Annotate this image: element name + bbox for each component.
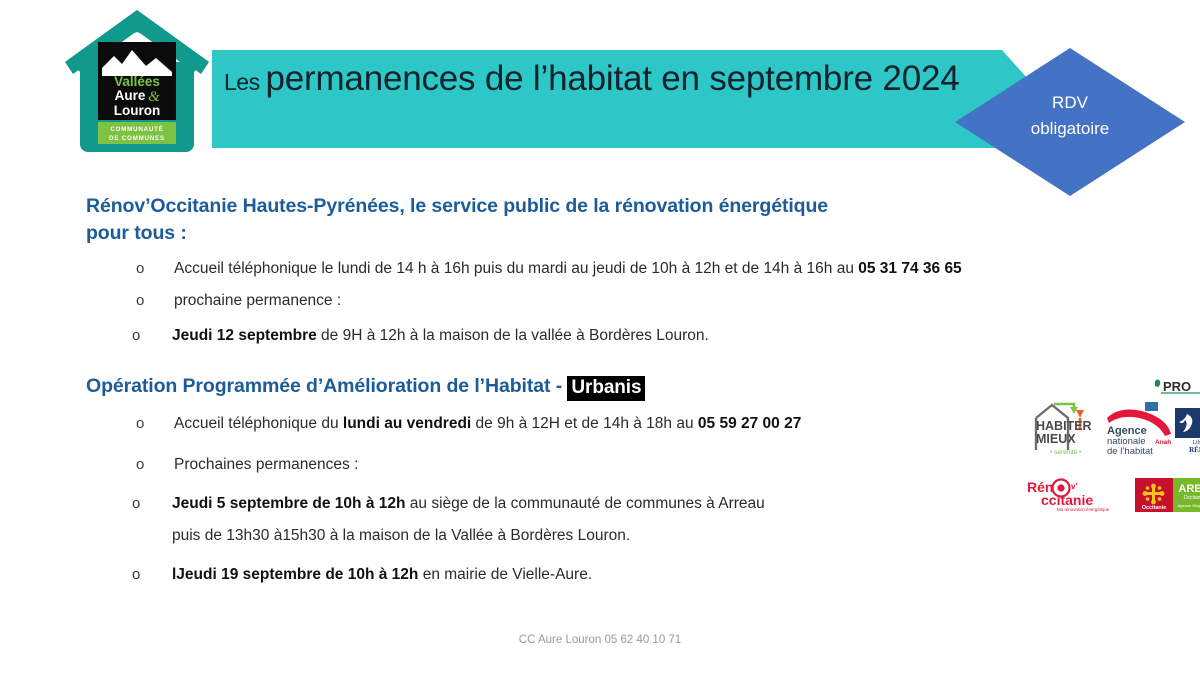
section-1-bullet-list: o Accueil téléphonique le lundi de 14 h …: [136, 258, 1076, 311]
section-2-heading: Opération Programmée d’Amélioration de l…: [86, 373, 1076, 401]
list-item-text: Prochaines permanences :: [174, 456, 358, 473]
footer-text: CC Aure Louron 05 62 40 10 71: [0, 634, 1200, 646]
svg-text:• sérénité •: • sérénité •: [1050, 449, 1082, 456]
phone-number: 05 59 27 00 27: [698, 415, 801, 432]
region-occitanie-logo: Occitanie: [1135, 478, 1173, 512]
bullet-marker: o: [136, 454, 144, 475]
section-opah-urbanis: Opération Programmée d’Amélioration de l…: [86, 373, 1076, 585]
pro-logo: PRO: [1153, 378, 1200, 394]
svg-text:RÉPUB: RÉPUB: [1189, 446, 1200, 454]
list-item: o prochaine permanence :: [136, 290, 1076, 311]
svg-text:de l’habitat: de l’habitat: [1107, 446, 1153, 456]
svg-text:Anah: Anah: [1155, 439, 1171, 446]
permanence-date: Jeudi 12 septembre: [172, 327, 317, 344]
section-1-sub-list: o Jeudi 12 septembre de 9H à 12h à la ma…: [128, 325, 1076, 346]
list-item-text: Accueil téléphonique le lundi de 14 h à …: [174, 260, 858, 277]
list-item-text: Accueil téléphonique du: [174, 415, 343, 432]
permanence-detail-line2: puis de 13h30 à15h30 à la maison de la V…: [172, 525, 1076, 546]
svg-text:AREC: AREC: [1178, 483, 1200, 495]
renov-occitanie-logo: Rén v’ ccitanie Ma rénovation énergétiqu…: [1027, 478, 1122, 512]
section-2-bullet-list: o Accueil téléphonique du lundi au vendr…: [136, 413, 1076, 475]
rdv-badge-line1: RDV: [955, 90, 1185, 116]
permanence-detail: de 9H à 12h à la maison de la vallée à B…: [317, 327, 709, 344]
section-2-sub-list: o Jeudi 5 septembre de 10h à 12h au sièg…: [128, 493, 1076, 585]
section-1-heading-line1: Rénov’Occitanie Hautes-Pyrénées, le serv…: [86, 193, 1076, 220]
rdv-badge-line2: obligatoire: [955, 116, 1185, 142]
republique-francaise-logo: Liberté RÉPUB: [1175, 408, 1200, 454]
days-range: lundi au vendredi: [343, 415, 471, 432]
page-title-main: permanences de l’habitat en septembre 20…: [265, 59, 959, 98]
svg-text:Occitanie: Occitanie: [1142, 505, 1166, 511]
page-title-prefix: Les: [224, 69, 265, 95]
svg-text:Louron: Louron: [114, 103, 161, 118]
list-item-text: prochaine permanence :: [174, 292, 341, 309]
permanence-date: Jeudi 5 septembre de 10h à 12h: [172, 495, 405, 512]
urbanis-logo-badge: Urbanis: [567, 376, 645, 401]
bullet-marker: o: [136, 290, 144, 311]
svg-text:ccitanie: ccitanie: [1041, 492, 1093, 508]
section-renov-occitanie: Rénov’Occitanie Hautes-Pyrénées, le serv…: [86, 193, 1076, 346]
rdv-badge: RDV obligatoire: [955, 48, 1185, 196]
svg-text:DE COMMUNES: DE COMMUNES: [109, 135, 165, 142]
list-item: o Accueil téléphonique du lundi au vendr…: [136, 413, 1076, 434]
phone-number: 05 31 74 36 65: [858, 260, 961, 277]
arec-logo: AREC Occitanie Agence Régionale: [1173, 478, 1200, 512]
rdv-badge-label: RDV obligatoire: [955, 90, 1185, 142]
bullet-marker: o: [136, 413, 144, 434]
bullet-marker: o: [132, 493, 140, 514]
slide-root: Vallées Aure & Louron COMMUNAUTÉ DE COMM…: [0, 0, 1200, 675]
section-1-heading: Rénov’Occitanie Hautes-Pyrénées, le serv…: [86, 193, 1076, 247]
permanence-detail: au siège de la communauté de communes à …: [405, 495, 764, 512]
bullet-marker: o: [136, 258, 144, 279]
svg-text:HABITER: HABITER: [1036, 419, 1092, 433]
svg-text:Ma rénovation énergétique: Ma rénovation énergétique: [1057, 507, 1110, 512]
svg-text:COMMUNAUTÉ: COMMUNAUTÉ: [110, 125, 163, 133]
svg-text:MIEUX: MIEUX: [1036, 432, 1076, 446]
vallees-aure-louron-logo: Vallées Aure & Louron COMMUNAUTÉ DE COMM…: [62, 6, 212, 158]
anah-logo: Agence nationale de l’habitat Anah: [1105, 400, 1177, 456]
svg-text:Occitanie: Occitanie: [1184, 495, 1200, 501]
habiter-mieux-logo: HABITER MIEUX • sérénité •: [1030, 396, 1100, 458]
svg-text:Agence Régionale: Agence Régionale: [1178, 503, 1200, 508]
svg-text:PRO: PRO: [1163, 379, 1191, 394]
page-title: Les permanences de l’habitat en septembr…: [224, 56, 994, 105]
list-item-text-2: de 9h à 12H et de 14h à 18h au: [471, 415, 698, 432]
list-item: o lJeudi 19 septembre de 10h à 12h en ma…: [128, 564, 1076, 585]
svg-text:Aure: Aure: [115, 88, 146, 103]
permanence-detail: en mairie de Vielle-Aure.: [418, 566, 592, 583]
bullet-marker: o: [132, 564, 140, 585]
svg-text:v’: v’: [1071, 482, 1078, 491]
bullet-marker: o: [132, 325, 140, 346]
section-2-heading-text: Opération Programmée d’Amélioration de l…: [86, 375, 567, 397]
permanence-date: lJeudi 19 septembre de 10h à 12h: [172, 566, 418, 583]
list-item: o Accueil téléphonique le lundi de 14 h …: [136, 258, 1076, 279]
svg-text:Vallées: Vallées: [114, 74, 160, 89]
section-1-heading-line2: pour tous :: [86, 220, 1076, 247]
list-item: o Jeudi 5 septembre de 10h à 12h au sièg…: [128, 493, 1076, 546]
list-item: o Prochaines permanences :: [136, 454, 1076, 475]
partner-logos: HABITER MIEUX • sérénité • Agence nation…: [1025, 382, 1200, 522]
list-item: o Jeudi 12 septembre de 9H à 12h à la ma…: [128, 325, 1076, 346]
